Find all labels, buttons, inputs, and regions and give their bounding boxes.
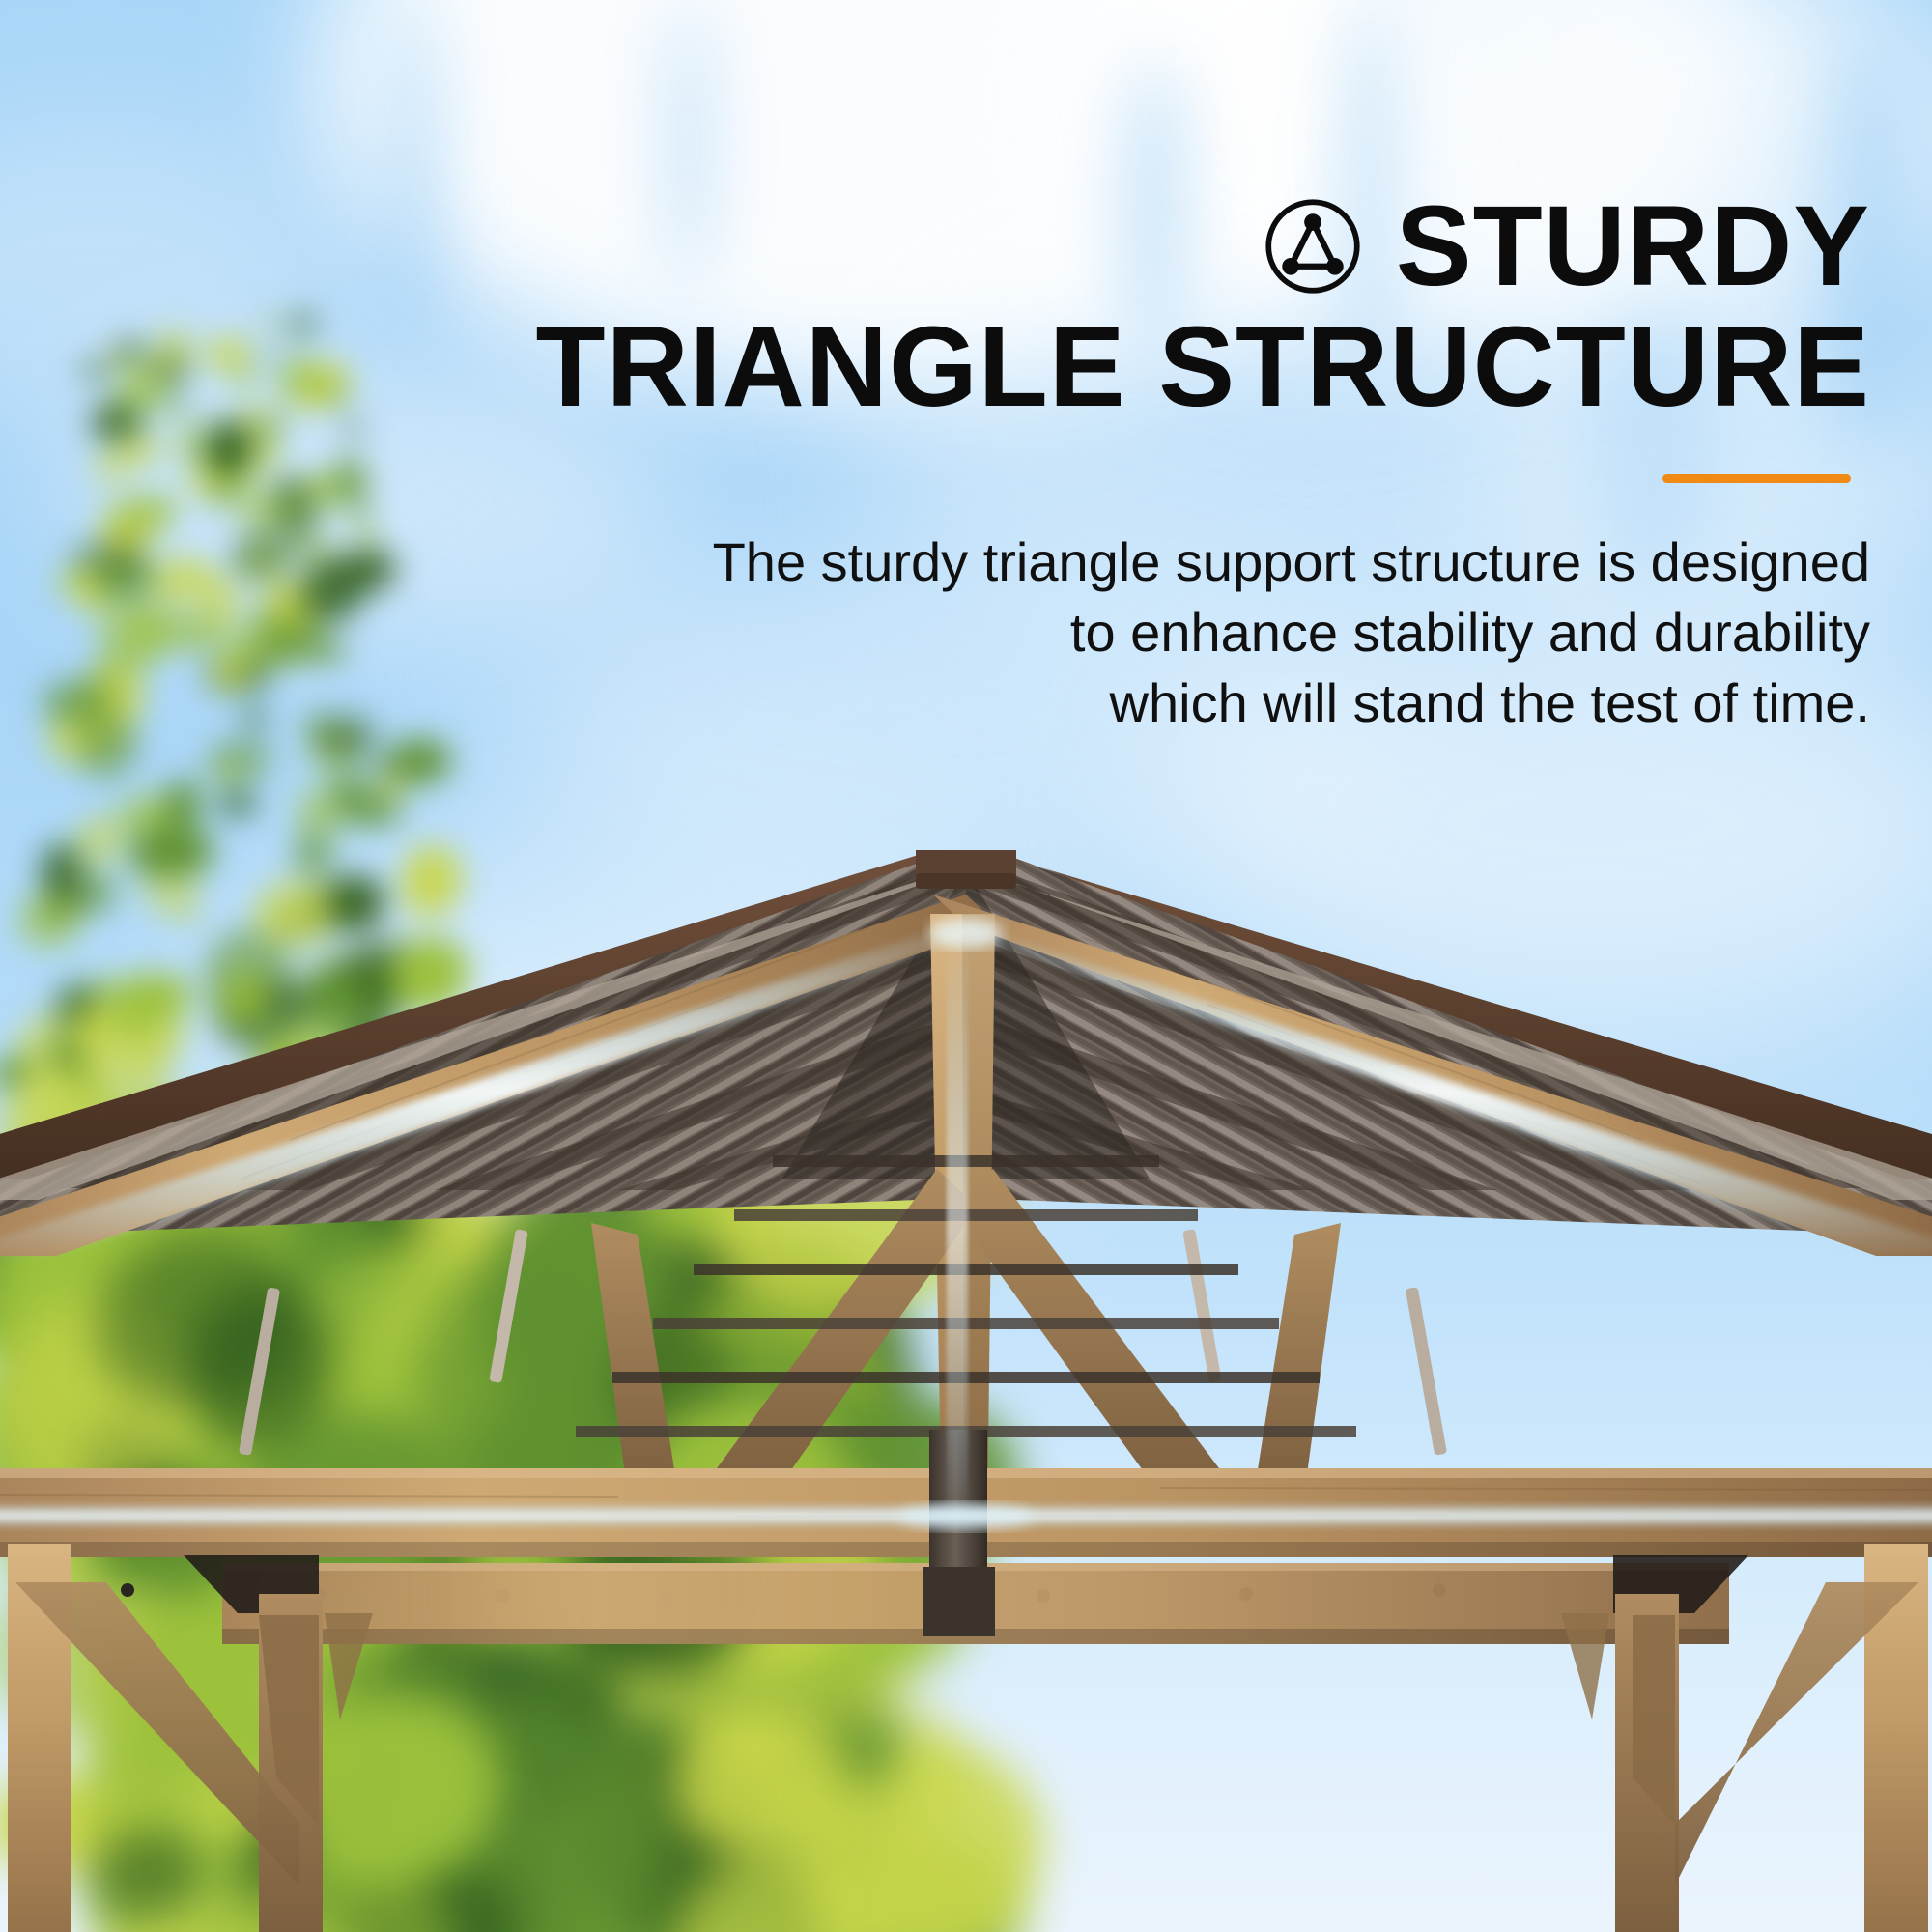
cloud-streak <box>386 0 444 328</box>
leaf-cluster <box>213 763 247 782</box>
text-block: STURDY TRIANGLE STRUCTURE The sturdy tri… <box>498 189 1870 739</box>
leaf-cluster <box>263 313 279 333</box>
headline-row: STURDY <box>498 189 1870 303</box>
triangle-nodes-in-circle-icon <box>1263 196 1363 297</box>
leaf-cluster <box>379 772 404 800</box>
leaf-cluster <box>262 352 276 363</box>
banner-canvas: STURDY TRIANGLE STRUCTURE The sturdy tri… <box>0 0 1932 1932</box>
leaf-cluster <box>341 421 365 438</box>
leaf-cluster <box>72 544 100 569</box>
paragraph-line-3: which will stand the test of time. <box>498 668 1870 739</box>
leaf-cluster <box>301 556 364 623</box>
leaf-cluster <box>78 717 137 778</box>
leaf-cluster <box>121 797 170 832</box>
leaf-cluster <box>122 365 166 412</box>
leaf-cluster <box>81 362 109 379</box>
roof-brace-left <box>591 1223 676 1482</box>
leaf-cluster <box>210 490 234 506</box>
orange-rule <box>1662 474 1851 483</box>
roof-brace-right <box>1256 1223 1341 1482</box>
leaf-cluster <box>174 615 225 649</box>
leaf-cluster <box>234 368 253 387</box>
description-paragraph: The sturdy triangle support structure is… <box>498 527 1870 738</box>
leaf-cluster <box>325 384 345 401</box>
leaf-cluster <box>290 313 317 336</box>
paragraph-line-1: The sturdy triangle support structure is… <box>498 527 1870 598</box>
headline-line-2: TRIANGLE STRUCTURE <box>498 303 1870 432</box>
headline-line-1: STURDY <box>1396 189 1870 303</box>
leaf-cluster <box>163 393 189 413</box>
leaf-cluster <box>118 340 142 362</box>
leaf-cluster <box>352 503 372 527</box>
leaf-cluster <box>258 413 286 438</box>
leaf-cluster <box>219 791 255 816</box>
leaf-cluster <box>99 600 166 672</box>
gazebo-structure <box>0 850 1932 1932</box>
leaf-cluster <box>207 338 250 370</box>
paragraph-line-2: to enhance stability and durability <box>498 598 1870 668</box>
leaf-cluster <box>119 435 146 468</box>
leaf-cluster <box>144 439 161 457</box>
leaf-cluster <box>356 526 377 550</box>
leaf-cluster <box>242 709 268 729</box>
leaf-cluster <box>162 781 202 829</box>
